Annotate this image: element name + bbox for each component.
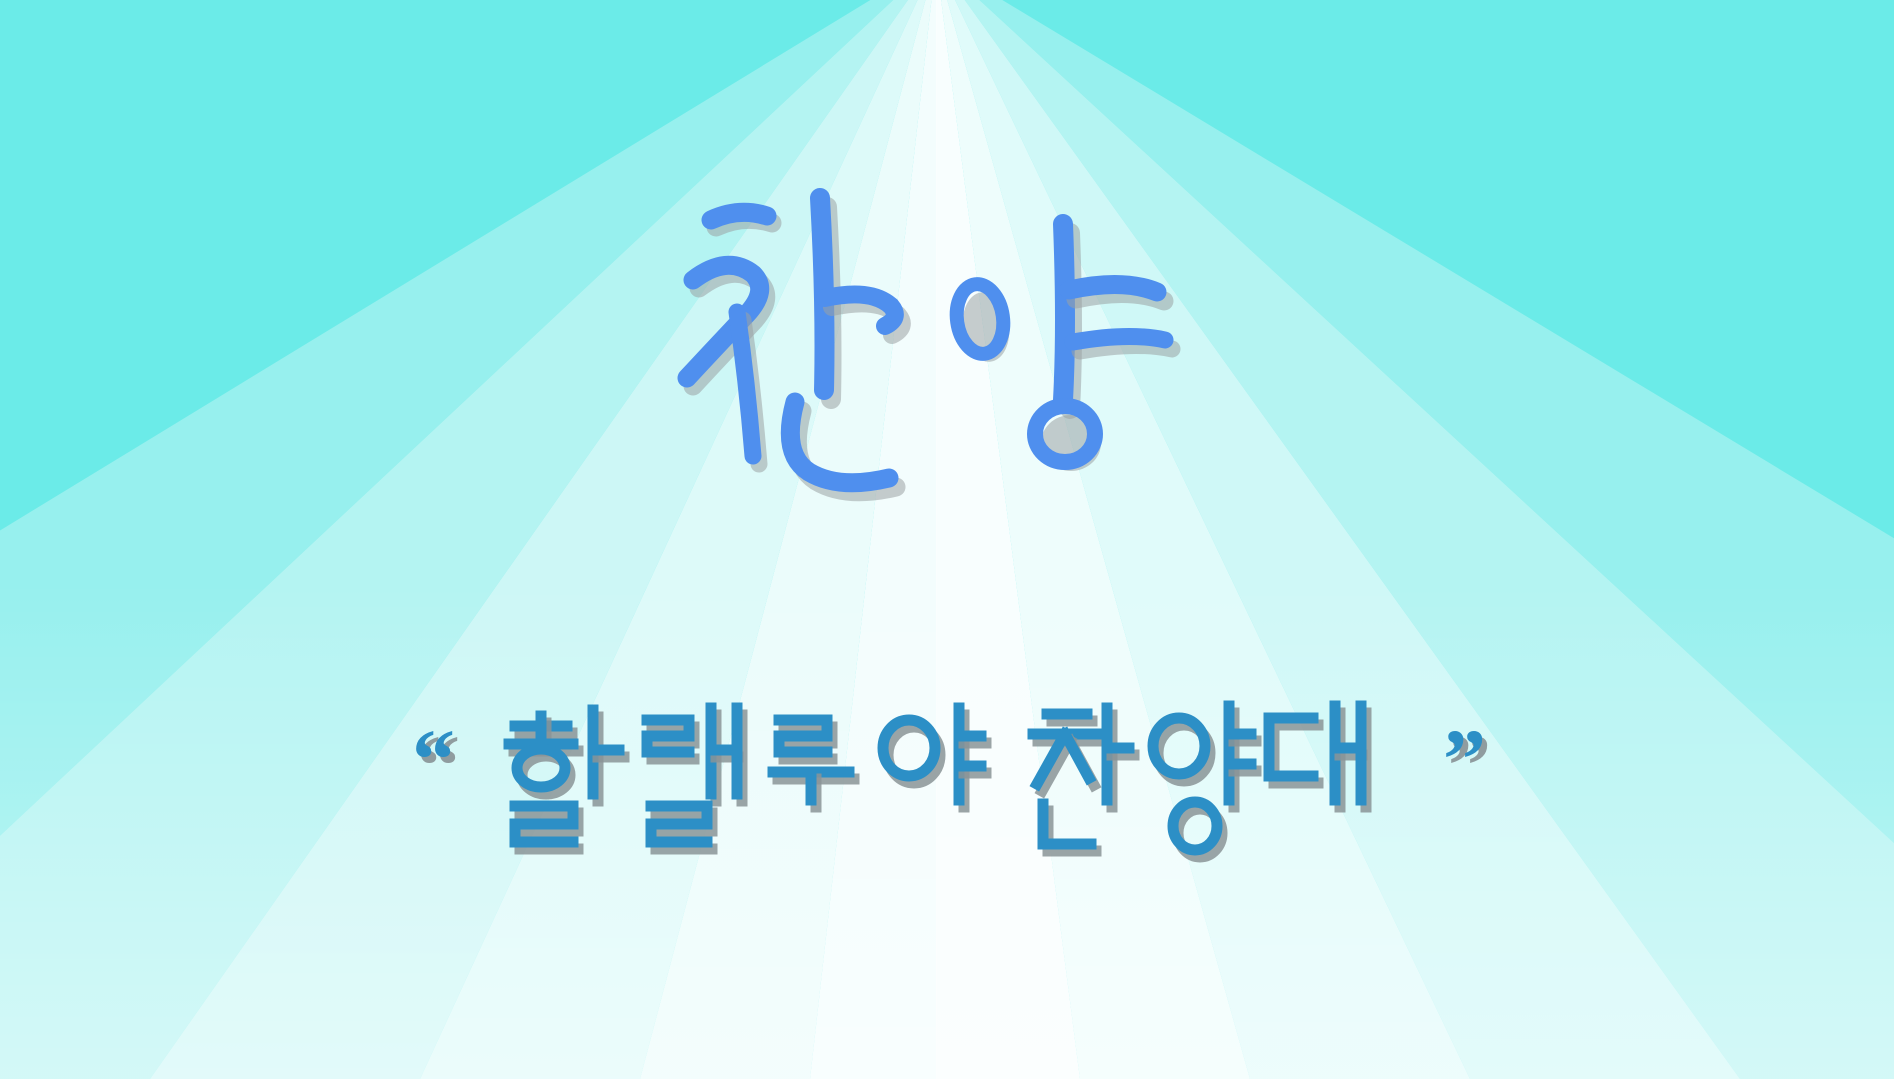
quote-open-icon: “ (412, 716, 451, 802)
presentation-slide: 찬양 (0, 0, 1894, 1079)
page-title: 찬양 (0, 186, 1894, 490)
slide-content: 찬양 (0, 0, 1894, 1079)
subtitle: “ 할렐루야 찬양대 (0, 700, 1894, 860)
title-handwritten-artwork (677, 186, 1217, 486)
quote-close-icon: ” (1443, 716, 1482, 802)
subtitle-artwork-wrap: 할렐루야 찬양대 (497, 700, 1397, 860)
subtitle-decorative-artwork (497, 700, 1397, 860)
